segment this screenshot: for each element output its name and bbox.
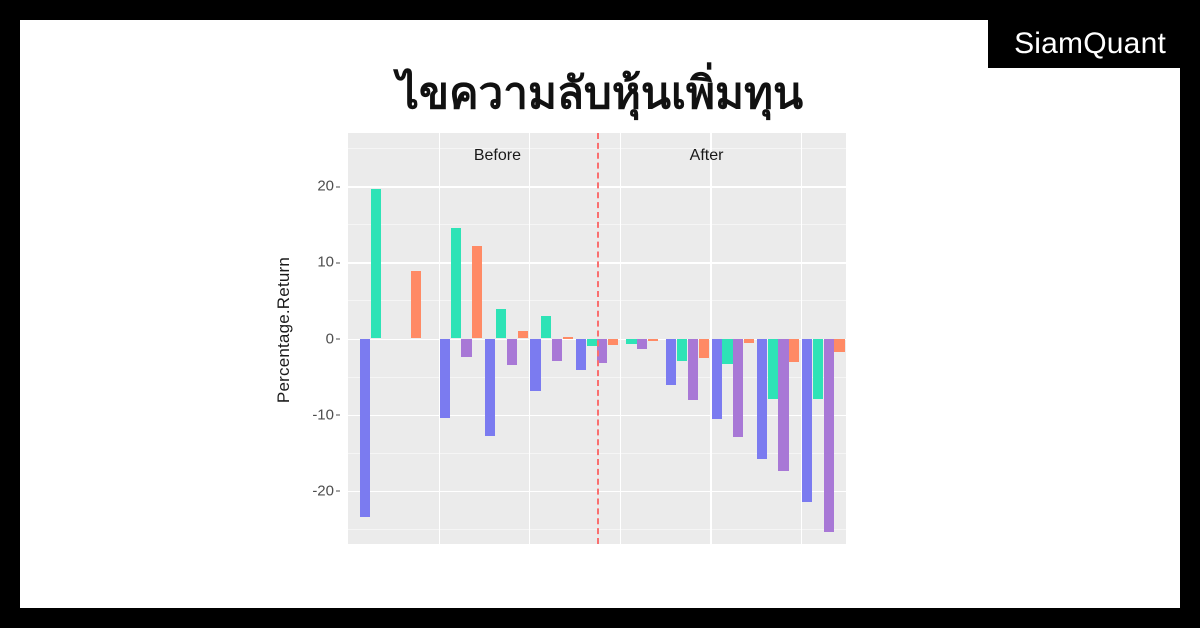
chart-bar [360, 339, 370, 517]
y-tick-label: -20 [312, 482, 334, 499]
chart-bar [834, 339, 844, 353]
chart-bar [518, 331, 528, 339]
chart-bar [768, 339, 778, 400]
y-axis-ticks: 20100-10-20 [280, 125, 342, 555]
chart-bar [626, 339, 636, 344]
facet-label-before: Before [474, 147, 521, 165]
y-tick-label: -10 [312, 406, 334, 423]
gridline-vertical [620, 133, 621, 544]
chart-bar [563, 337, 573, 338]
plot-panel: BeforeAfter [348, 133, 846, 544]
chart-bar [637, 339, 647, 350]
chart-bar [699, 339, 709, 358]
chart-bar [541, 316, 551, 338]
chart-bar [778, 339, 788, 471]
brand-name: SiamQuant [1014, 29, 1166, 59]
brand-badge: SiamQuant [988, 20, 1180, 68]
y-tick-label: 20 [317, 178, 334, 195]
chart-bar [507, 339, 517, 366]
chart-bar [530, 339, 540, 392]
chart-bar [576, 339, 586, 371]
chart-bar [451, 228, 461, 338]
magnifier-q-icon: Q [1083, 29, 1107, 59]
chart-bar [472, 246, 482, 339]
chart-bar [552, 339, 562, 361]
chart-bar [744, 339, 754, 344]
chart-bar [733, 339, 743, 437]
chart-bar [461, 339, 471, 357]
chart-bar [440, 339, 450, 418]
chart-bar [712, 339, 722, 420]
chart-bar [813, 339, 823, 399]
brand-name-suffix: uant [1107, 27, 1166, 60]
chart-bar [802, 339, 812, 503]
chart-bar [608, 339, 618, 346]
brand-q-letter: Q [1083, 27, 1107, 60]
chart-bar [496, 309, 506, 339]
page-title: ไขความลับหุ้นเพิ่มทุน [20, 68, 1180, 121]
brand-name-prefix: Siam [1014, 27, 1083, 60]
chart-bar [411, 271, 421, 339]
y-tick-label: 10 [317, 254, 334, 271]
chart-bar [789, 339, 799, 363]
content-card: SiamQuant ไขความลับหุ้นเพิ่มทุน Percenta… [20, 20, 1180, 608]
chart-bar [648, 339, 658, 341]
chart-bar [688, 339, 698, 401]
chart-container: Percentage.Return 20100-10-20 BeforeAfte… [280, 125, 846, 555]
chart-bar [677, 339, 687, 362]
chart-bar [485, 339, 495, 436]
chart-bar [587, 339, 597, 347]
y-tick-label: 0 [326, 330, 334, 347]
page-root: SiamQuant ไขความลับหุ้นเพิ่มทุน Percenta… [0, 0, 1200, 628]
chart-bar [666, 339, 676, 385]
chart-bar [371, 189, 381, 339]
chart-bar [722, 339, 732, 364]
facet-label-after: After [690, 147, 724, 165]
period-divider [597, 133, 599, 544]
chart-bar [757, 339, 767, 459]
chart-bar [824, 339, 834, 532]
